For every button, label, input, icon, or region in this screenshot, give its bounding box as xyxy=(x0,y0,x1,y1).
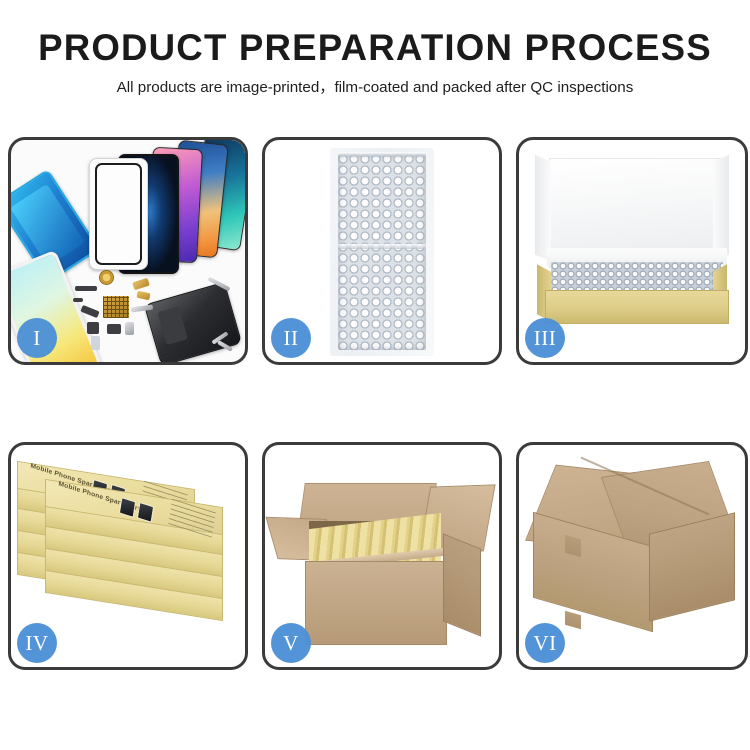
box-art-lcd-front-b xyxy=(137,502,154,523)
step-panel-1[interactable]: I xyxy=(8,137,248,365)
step-panel-2[interactable]: II xyxy=(262,137,502,365)
step-panel-6[interactable]: VI xyxy=(516,442,748,670)
gold-clip-part xyxy=(136,291,150,301)
antenna-part xyxy=(73,298,83,302)
ic-chip-part xyxy=(103,296,129,318)
bubble-wrap-texture xyxy=(338,154,426,350)
inner-box-front-wall xyxy=(545,290,729,324)
step-badge-1: I xyxy=(17,318,57,358)
carton-handle-tab-bottom xyxy=(565,611,581,630)
flex-cable-part xyxy=(75,286,97,291)
step-panel-5[interactable]: V xyxy=(262,442,502,670)
lid-right-fold xyxy=(713,155,729,261)
pouch-seam-mid xyxy=(338,244,426,249)
page-title: PRODUCT PREPARATION PROCESS xyxy=(4,26,747,70)
bubble-wrapped-contents xyxy=(551,262,723,292)
camera-module-part xyxy=(87,322,99,334)
step-badge-4: IV xyxy=(17,623,57,663)
phone-glass-panel xyxy=(89,158,148,270)
page-subtitle: All products are image-printed，film-coat… xyxy=(0,77,750,99)
connector-part xyxy=(80,305,99,318)
box-art-lcd-front-a xyxy=(119,497,136,518)
speaker-coil-part xyxy=(99,270,114,285)
step-badge-5: V xyxy=(271,623,311,663)
vibrator-part xyxy=(107,324,121,334)
process-steps-grid: I II III xyxy=(0,137,750,670)
sim-tray-part xyxy=(125,322,134,335)
step-panel-4[interactable]: Mobile Phone Spare Parts Mobile Phone Sp… xyxy=(8,442,248,670)
page-header: PRODUCT PREPARATION PROCESS All products… xyxy=(0,0,750,99)
small-screen-part xyxy=(91,336,100,350)
carton-front-wall xyxy=(305,561,447,645)
step-badge-6: VI xyxy=(525,623,565,663)
step-badge-2: II xyxy=(271,318,311,358)
step-panel-3[interactable]: III xyxy=(516,137,748,365)
pouch-seam-top xyxy=(338,152,426,157)
carton-side-wall xyxy=(443,533,481,636)
step-badge-3: III xyxy=(525,318,565,358)
lid-left-fold xyxy=(535,155,551,261)
bubble-pouch xyxy=(330,148,434,356)
gold-bracket-part xyxy=(132,278,150,291)
